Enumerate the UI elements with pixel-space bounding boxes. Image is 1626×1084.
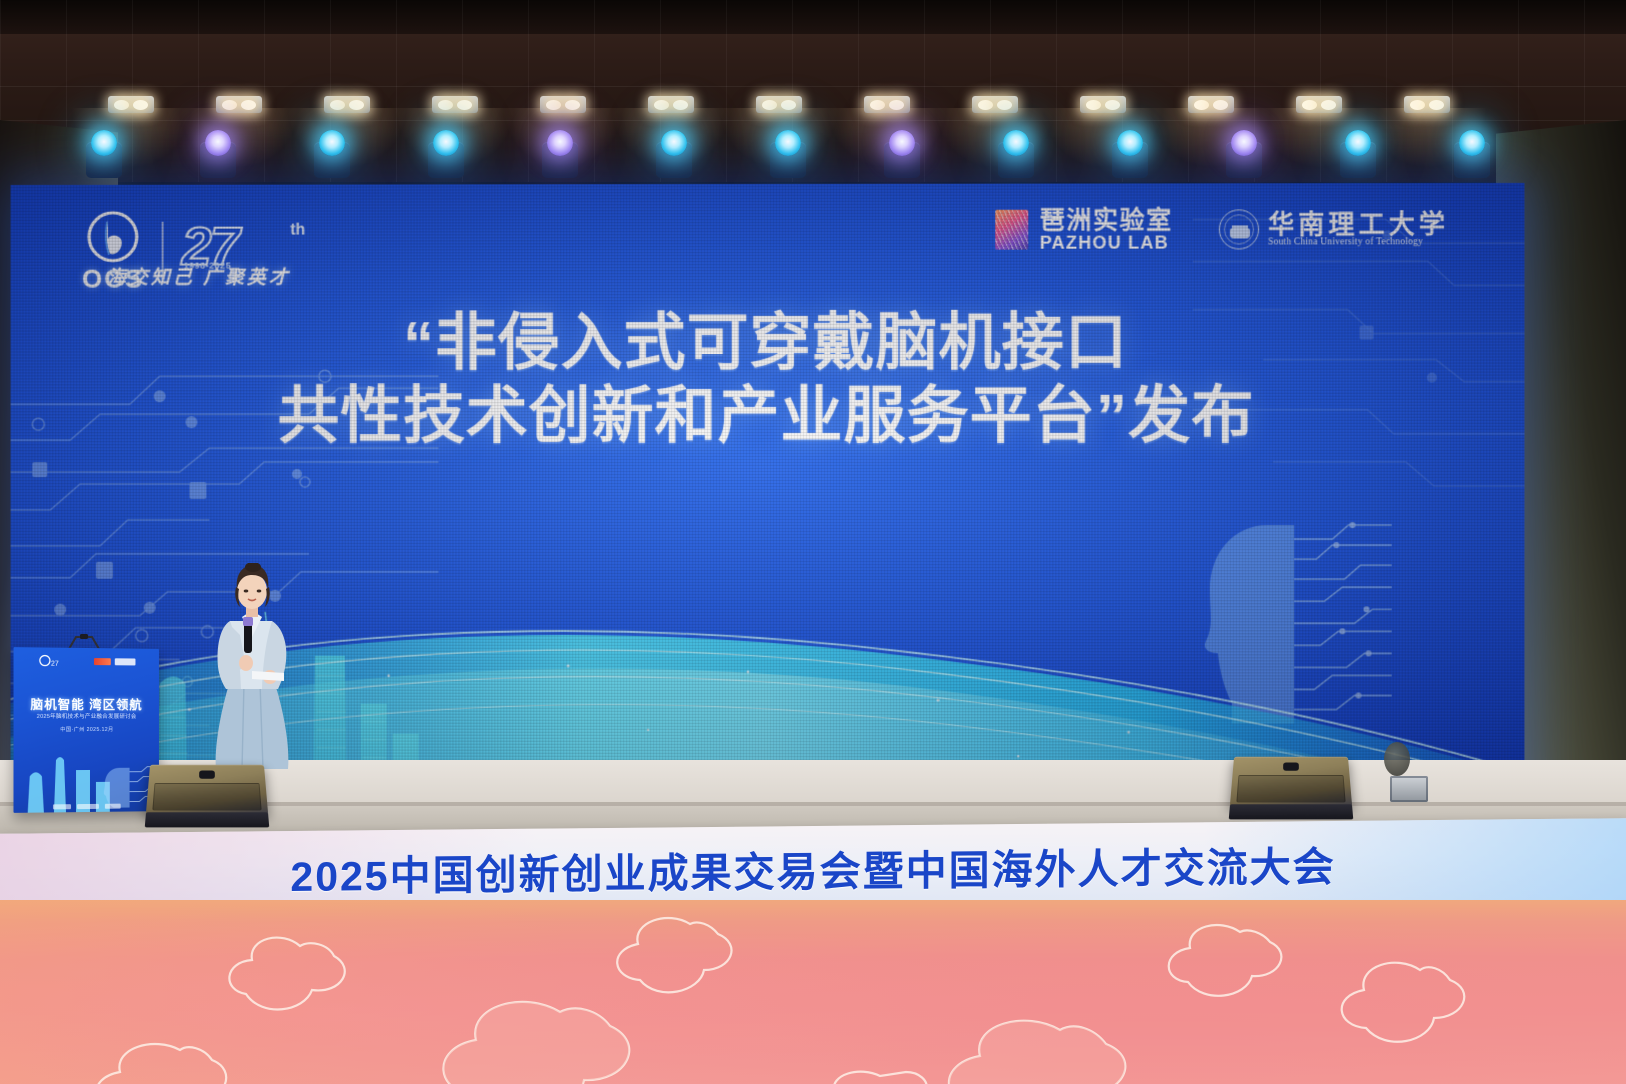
ceiling-wash-light (432, 96, 478, 113)
scut-text: 华南理工大学 South China University of Technol… (1268, 211, 1449, 249)
pazhou-lab-logo: 琶洲实验室 PAZHOU LAB (996, 207, 1173, 252)
moving-head-spotlight (1224, 128, 1264, 180)
ceiling-wash-light (1404, 96, 1450, 113)
moving-head-spotlight (1110, 128, 1150, 180)
ceiling-wash-light (648, 96, 694, 113)
scut-seal-icon (1219, 210, 1259, 250)
pazhou-name-cn: 琶洲实验室 (1040, 207, 1173, 233)
screen-title-line1: “非侵入式可穿戴脑机接口 (403, 309, 1128, 378)
ceiling-wash-light (864, 96, 910, 113)
ceiling-wash-light (756, 96, 802, 113)
podium-sign-board: 27 脑机智能 湾区领航 2025年脑机技术与产业融合发展研讨会 中国·广州 2… (13, 647, 158, 813)
anniversary-suffix: th (290, 222, 305, 240)
partner-logo-row: 琶洲实验室 PAZHOU LAB 华南理工大学 South China Univ… (996, 207, 1449, 252)
equipment-case (1390, 776, 1428, 802)
pazhou-mark-icon (996, 210, 1029, 250)
podium-subtitle: 2025年脑机技术与产业融合发展研讨会 (13, 712, 158, 720)
podium-headline: 脑机智能 湾区领航 (13, 694, 158, 714)
fixture-lens (547, 130, 573, 156)
podium-footer-logos (13, 803, 158, 810)
scut-name-cn: 华南理工大学 (1268, 211, 1449, 239)
moving-head-spotlight (426, 128, 466, 180)
fixture-lens (889, 130, 915, 156)
monitor-grill (1236, 775, 1345, 802)
ceiling-band (0, 86, 1626, 87)
floor-banner-text: 2025中国创新创业成果交易会暨中国海外人才交流大会 (290, 833, 1335, 903)
fixture-lens (205, 130, 231, 156)
ceiling-band (0, 120, 1626, 121)
host-presenter (200, 563, 304, 783)
podium-footer-logo (77, 804, 99, 809)
moving-head-spotlight (312, 128, 352, 180)
podium-footer-logo (53, 804, 71, 809)
ceiling-wash-light (216, 96, 262, 113)
swan-icon (86, 210, 140, 264)
ocs-slogan: 海交知己 广聚英才 (82, 262, 316, 289)
moving-head-spotlight (198, 128, 238, 180)
ceiling-wash-light (972, 96, 1018, 113)
scut-name-en: South China University of Technology (1268, 238, 1449, 248)
foreground-carpet (0, 900, 1626, 1084)
fixture-lens (775, 130, 801, 156)
podium-footer-logo (105, 804, 121, 809)
monitor-base (145, 812, 270, 827)
fixture-lens (1459, 130, 1485, 156)
podium-badge-pazhou (93, 658, 110, 665)
svg-text:27: 27 (50, 661, 58, 668)
podium-badge-scut (114, 658, 135, 665)
stage-monitor-right (1230, 757, 1352, 807)
fixture-lens (1345, 130, 1371, 156)
podium-partner-badges (93, 658, 135, 665)
moving-head-spotlight (882, 128, 922, 180)
screen-title-line2: 共性技术创新和产业服务平台”发布 (11, 380, 1525, 454)
ceiling-wash-light (1080, 96, 1126, 113)
ceiling-wash-light (540, 96, 586, 113)
ceiling-wash-light (1296, 96, 1342, 113)
fixture-lens (433, 130, 459, 156)
monitor-handle (199, 770, 215, 778)
stage-light-fixture-floor (1384, 742, 1410, 776)
stage-monitor-left (146, 765, 268, 815)
moving-head-spotlight (540, 128, 580, 180)
screen-main-title: “非侵入式可穿戴脑机接口 共性技术创新和产业服务平台”发布 (11, 306, 1525, 453)
fixture-lens (661, 130, 687, 156)
pazhou-text: 琶洲实验室 PAZHOU LAB (1040, 207, 1173, 252)
stage-photo-scene: OCS 27 th 1998-2025 海交知己 广聚英才 琶洲实验室 PAZH… (0, 0, 1626, 1084)
podium-ocs-icon: 27 (38, 654, 60, 667)
moving-head-spotlight (768, 128, 808, 180)
ceiling-wash-light (324, 96, 370, 113)
fixture-lens (1003, 130, 1029, 156)
fixture-lens (319, 130, 345, 156)
moving-head-spotlight (1452, 128, 1492, 180)
monitor-base (1229, 804, 1354, 819)
podium-logo-row: 27 (13, 654, 158, 668)
fixture-lens (1117, 130, 1143, 156)
ceiling-wash-light (1188, 96, 1234, 113)
podium-skyline-icon (20, 746, 112, 813)
podium-meta: 中国·广州 2025.12月 (13, 726, 158, 733)
carpet-cloud-pattern (0, 900, 1626, 1084)
fixture-lens (1231, 130, 1257, 156)
moving-head-spotlight (1338, 128, 1378, 180)
moving-head-spotlight (654, 128, 694, 180)
ceiling-wash-light (108, 96, 154, 113)
pazhou-name-en: PAZHOU LAB (1040, 234, 1173, 253)
moving-head-spotlight (996, 128, 1036, 180)
moving-head-spotlight (84, 128, 124, 180)
ceiling-slat-texture (0, 0, 1626, 182)
ceiling (0, 0, 1626, 182)
scut-logo: 华南理工大学 South China University of Technol… (1219, 209, 1449, 249)
monitor-grill (152, 783, 261, 810)
fixture-lens (91, 130, 117, 156)
monitor-handle (1283, 762, 1299, 770)
